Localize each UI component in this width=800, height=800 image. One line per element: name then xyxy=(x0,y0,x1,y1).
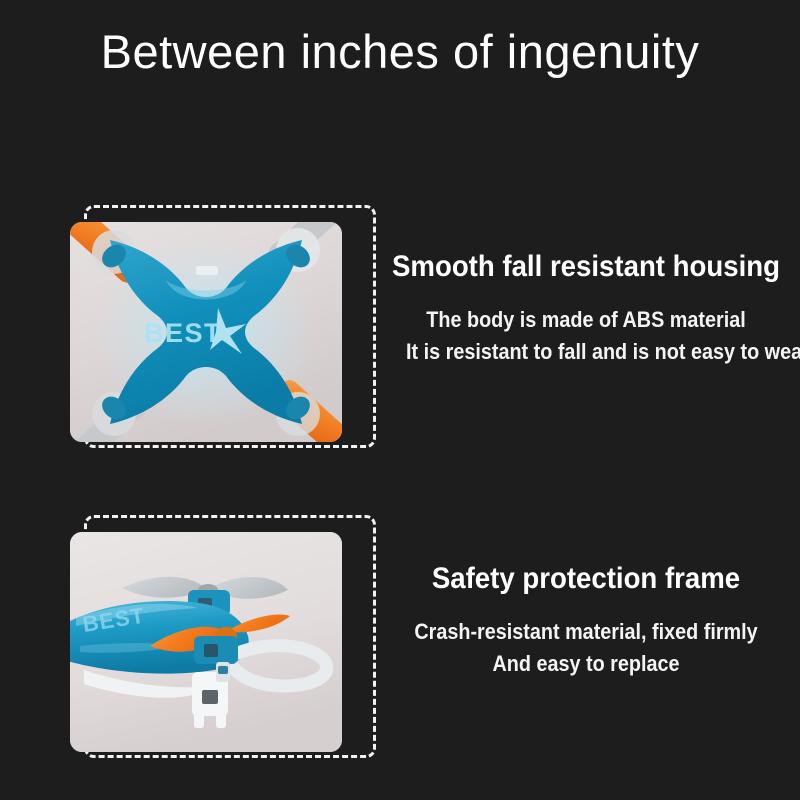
feature-body-line: The body is made of ABS material xyxy=(393,304,778,336)
photo-stack-housing: BEST xyxy=(56,200,366,460)
photo-stack-frame: BEST xyxy=(56,510,366,770)
feature-body-line: And easy to replace xyxy=(393,648,778,680)
drone-angle-view-photo: BEST xyxy=(70,532,342,752)
page-headline: Between inches of ingenuity xyxy=(0,22,800,82)
feature-title: Safety protection frame xyxy=(389,560,783,598)
copy-frame: Safety protection frame Crash-resistant … xyxy=(372,510,800,680)
feature-body-line: It is resistant to fall and is not easy … xyxy=(406,336,791,368)
drone-top-view-photo: BEST xyxy=(70,222,342,442)
feature-body-line: Crash-resistant material, fixed firmly xyxy=(393,616,778,648)
feature-body: The body is made of ABS material It is r… xyxy=(393,304,778,368)
feature-body: Crash-resistant material, fixed firmly A… xyxy=(393,616,778,680)
product-feature-page: Between inches of ingenuity xyxy=(0,0,800,800)
feature-title: Smooth fall resistant housing xyxy=(389,248,783,286)
copy-housing: Smooth fall resistant housing The body i… xyxy=(372,200,800,368)
svg-text:BEST: BEST xyxy=(144,318,222,348)
front-motor xyxy=(194,636,238,664)
